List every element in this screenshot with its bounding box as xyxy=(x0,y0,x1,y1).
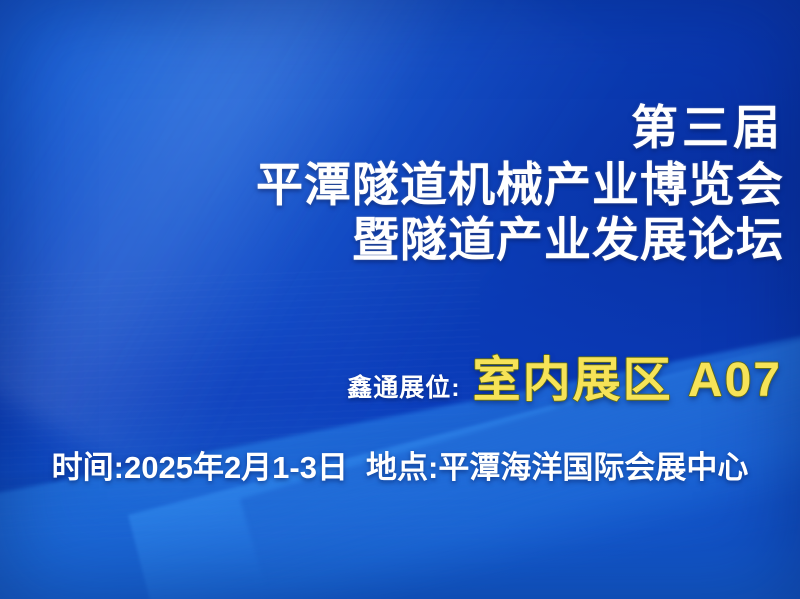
event-date: 时间:2025年2月1-3日 xyxy=(52,442,348,487)
booth-label: 鑫通展位: xyxy=(347,368,460,404)
event-venue: 地点:平潭海洋国际会展中心 xyxy=(366,442,748,487)
event-details-row: 时间:2025年2月1-3日 地点:平潭海洋国际会展中心 xyxy=(0,442,800,487)
booth-info-row: 鑫通展位: 室内展区 A07 xyxy=(347,340,782,410)
promo-banner: 第三届 平潭隧道机械产业博览会 暨隧道产业发展论坛 鑫通展位: 室内展区 A07… xyxy=(0,0,800,599)
title-line-expo-name: 平潭隧道机械产业博览会 xyxy=(256,161,784,208)
title-line-forum-name: 暨隧道产业发展论坛 xyxy=(256,216,784,263)
title-line-edition: 第三届 xyxy=(256,104,784,151)
banner-content: 第三届 平潭隧道机械产业博览会 暨隧道产业发展论坛 鑫通展位: 室内展区 A07… xyxy=(0,0,800,599)
booth-number: 室内展区 A07 xyxy=(473,340,782,410)
event-title-block: 第三届 平潭隧道机械产业博览会 暨隧道产业发展论坛 xyxy=(256,104,784,263)
